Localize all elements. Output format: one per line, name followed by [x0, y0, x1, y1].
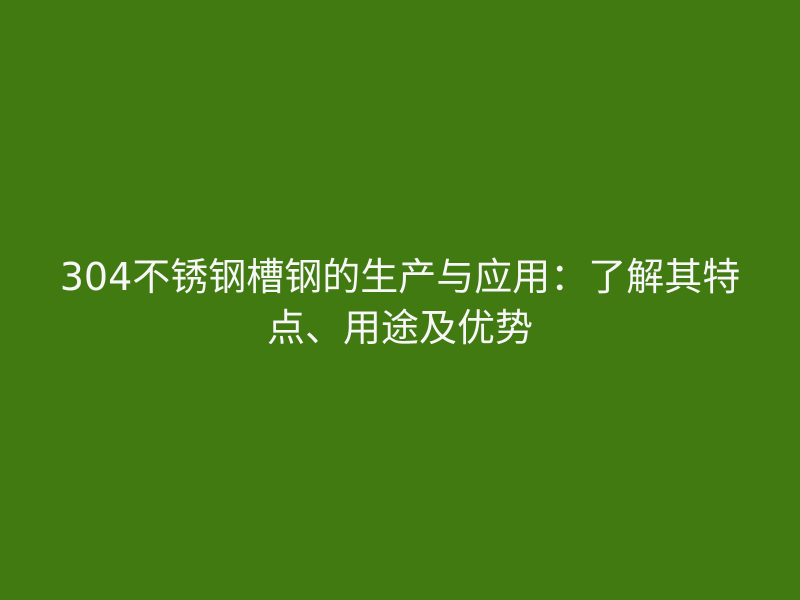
page-title: 304不锈钢槽钢的生产与应用：了解其特点、用途及优势	[55, 252, 745, 354]
banner-canvas: 304不锈钢槽钢的生产与应用：了解其特点、用途及优势	[0, 0, 800, 600]
title-block: 304不锈钢槽钢的生产与应用：了解其特点、用途及优势	[55, 252, 745, 354]
